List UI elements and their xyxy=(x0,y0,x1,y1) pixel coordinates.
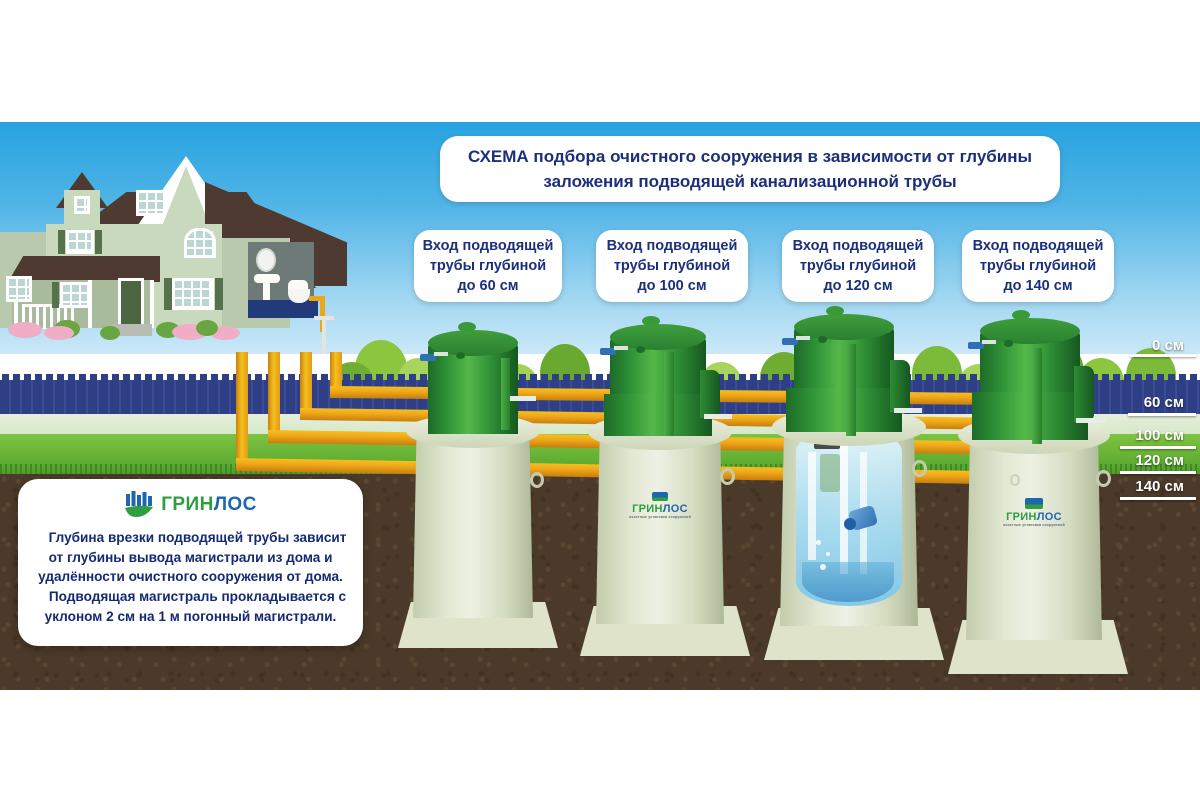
vent-cap xyxy=(314,316,334,320)
tank-lifting-lug xyxy=(530,472,544,488)
callout-60cm-line2: трубы глубиной xyxy=(430,256,546,276)
tank-hatch-icon xyxy=(826,306,844,316)
porch-post xyxy=(150,280,154,328)
callout-60cm-line3: до 60 см xyxy=(457,276,518,296)
internal-pipe xyxy=(808,452,816,560)
brand-name-green: ГРИН xyxy=(161,494,213,515)
depth-line-0 xyxy=(1130,354,1196,357)
bubble-icon xyxy=(816,540,821,545)
pipe-vertical-2 xyxy=(268,352,280,434)
bathroom-floor xyxy=(248,300,318,318)
info-paragraph-2: Подводящая магистраль прокладывается с у… xyxy=(32,587,349,626)
flowerbed xyxy=(44,326,74,340)
tank-body xyxy=(596,428,724,624)
tank-side-duct xyxy=(700,370,720,418)
pump-inlet-icon xyxy=(844,518,856,530)
tank-brand-blue: ЛОС xyxy=(663,503,688,515)
depth-label-140: 140 см xyxy=(1098,478,1184,495)
greenlos-logo-svg xyxy=(124,491,154,519)
septic-tank-3 xyxy=(764,302,944,662)
callout-140cm-line3: до 140 см xyxy=(1003,276,1072,296)
house-shutter xyxy=(58,230,65,254)
tank-side-duct xyxy=(1074,366,1094,422)
tank-riser-lower xyxy=(786,388,902,432)
info-box: ГРИНЛОС Глубина врезки подводящей трубы … xyxy=(18,479,363,646)
tank-outlet-pipe xyxy=(894,408,922,413)
house-illustration xyxy=(0,130,340,450)
callout-140cm-line1: Вход подводящей xyxy=(973,236,1104,256)
tank-brand-logo: ГРИНЛОС очистные установки сооружений xyxy=(614,492,706,519)
house-window xyxy=(172,278,214,310)
tank-outlet-pipe xyxy=(704,414,732,419)
house-window-arch xyxy=(184,228,216,258)
callout-140cm-line2: трубы глубиной xyxy=(980,256,1096,276)
tank-body xyxy=(413,428,533,618)
tank-fin xyxy=(1032,348,1042,444)
depth-label-120: 120 см xyxy=(1098,452,1184,469)
callout-100cm-line3: до 100 см xyxy=(637,276,706,296)
info-paragraph-1: Глубина врезки подводящей трубы зависит … xyxy=(32,528,349,587)
tank-valve-pipe xyxy=(982,340,996,344)
tank-fin xyxy=(664,352,674,436)
flowerbed xyxy=(8,322,42,338)
diagram-title-line2: заложения подводящей канализационной тру… xyxy=(543,169,956,195)
callout-60cm-line1: Вход подводящей xyxy=(423,236,554,256)
house-window xyxy=(60,282,90,308)
tank-port-icon xyxy=(636,346,645,353)
house-door xyxy=(118,278,144,328)
house-window xyxy=(66,230,94,254)
diagram-title: СХЕМА подбора очистного сооружения в зав… xyxy=(440,136,1060,202)
tank-fin xyxy=(846,344,856,436)
callout-120cm-line1: Вход подводящей xyxy=(793,236,924,256)
callout-60cm: Вход подводящей трубы глубиной до 60 см xyxy=(414,230,562,302)
tank-riser-lower xyxy=(604,394,712,436)
tank-valve-pipe xyxy=(434,352,448,356)
mirror-icon xyxy=(256,248,276,272)
tank-small-port xyxy=(1010,474,1020,486)
house-window xyxy=(136,190,166,216)
tank-hatch-icon xyxy=(1012,310,1030,320)
house-window xyxy=(6,276,32,302)
tank-valve-pipe xyxy=(614,346,628,350)
depth-label-100: 100 см xyxy=(1098,427,1184,444)
pipe-vertical-3 xyxy=(300,352,312,412)
house-shutter xyxy=(164,278,172,310)
greenlos-logo-icon xyxy=(124,491,154,519)
brand-logo: ГРИНЛОС xyxy=(32,491,349,519)
callout-120cm-line2: трубы глубиной xyxy=(800,256,916,276)
callout-140cm: Вход подводящей трубы глубиной до 140 см xyxy=(962,230,1114,302)
septic-tank-2: ГРИНЛОС очистные установки сооружений xyxy=(580,310,750,660)
tank-brand-tagline: очистные установки сооружений xyxy=(614,515,706,519)
vent-post xyxy=(322,318,326,354)
bush-icon xyxy=(196,320,218,336)
tank-riser-lower xyxy=(972,392,1088,440)
tank-brand-blue: ЛОС xyxy=(1037,511,1062,523)
bubble-icon xyxy=(826,552,830,556)
sink-pedestal xyxy=(263,282,270,300)
tank-brand-tagline: очистные установки сооружений xyxy=(986,523,1082,527)
callout-100cm-line2: трубы глубиной xyxy=(614,256,730,276)
brand-mark-icon xyxy=(1025,498,1043,509)
callout-120cm: Вход подводящей трубы глубиной до 120 см xyxy=(782,230,934,302)
depth-line-60 xyxy=(1128,413,1196,416)
tank-body xyxy=(966,432,1102,640)
callout-100cm: Вход подводящей трубы глубиной до 100 см xyxy=(596,230,748,302)
depth-line-140 xyxy=(1120,497,1196,500)
bio-media-block xyxy=(820,454,840,492)
depth-line-120 xyxy=(1120,471,1196,474)
tank-port-icon xyxy=(456,352,465,359)
tank-side-duct xyxy=(890,360,910,412)
brand-wordmark: ГРИНЛОС xyxy=(161,494,256,516)
bubble-icon xyxy=(820,564,826,570)
callout-100cm-line1: Вход подводящей xyxy=(607,236,738,256)
internal-pipe xyxy=(840,444,848,574)
brand-name-blue: ЛОС xyxy=(214,494,257,515)
tank-fin xyxy=(501,358,510,430)
tank-hatch-icon xyxy=(458,322,476,332)
callout-120cm-line3: до 120 см xyxy=(823,276,892,296)
depth-label-60: 60 см xyxy=(1098,394,1184,411)
house-dormer-window xyxy=(74,196,90,214)
bush-icon xyxy=(100,326,120,340)
house-shutter xyxy=(95,230,102,254)
tank-brand-green: ГРИН xyxy=(1006,511,1037,523)
house-shutter xyxy=(215,278,223,310)
tank-brand-green: ГРИН xyxy=(632,503,663,515)
depth-label-0: 0 см xyxy=(1098,337,1184,354)
tank-port-icon xyxy=(818,336,827,343)
tank-brand-logo: ГРИНЛОС очистные установки сооружений xyxy=(986,498,1082,527)
depth-line-100 xyxy=(1120,446,1196,449)
tank-hatch-icon xyxy=(642,316,660,326)
tank-lifting-lug xyxy=(912,460,927,477)
house-shutter xyxy=(52,282,59,308)
tank-valve-pipe xyxy=(796,336,810,340)
tank-lifting-lug xyxy=(720,468,735,485)
tank-outlet-pipe xyxy=(510,396,536,401)
septic-tank-1 xyxy=(398,320,558,650)
brand-mark-icon xyxy=(652,492,668,501)
tank-port-icon xyxy=(1004,340,1013,347)
info-box-text: Глубина врезки подводящей трубы зависит … xyxy=(32,528,349,627)
diagram-title-line1: СХЕМА подбора очистного сооружения в зав… xyxy=(468,144,1032,170)
pipe-vertical-1 xyxy=(236,352,248,462)
tank-outlet-pipe xyxy=(1076,418,1106,423)
